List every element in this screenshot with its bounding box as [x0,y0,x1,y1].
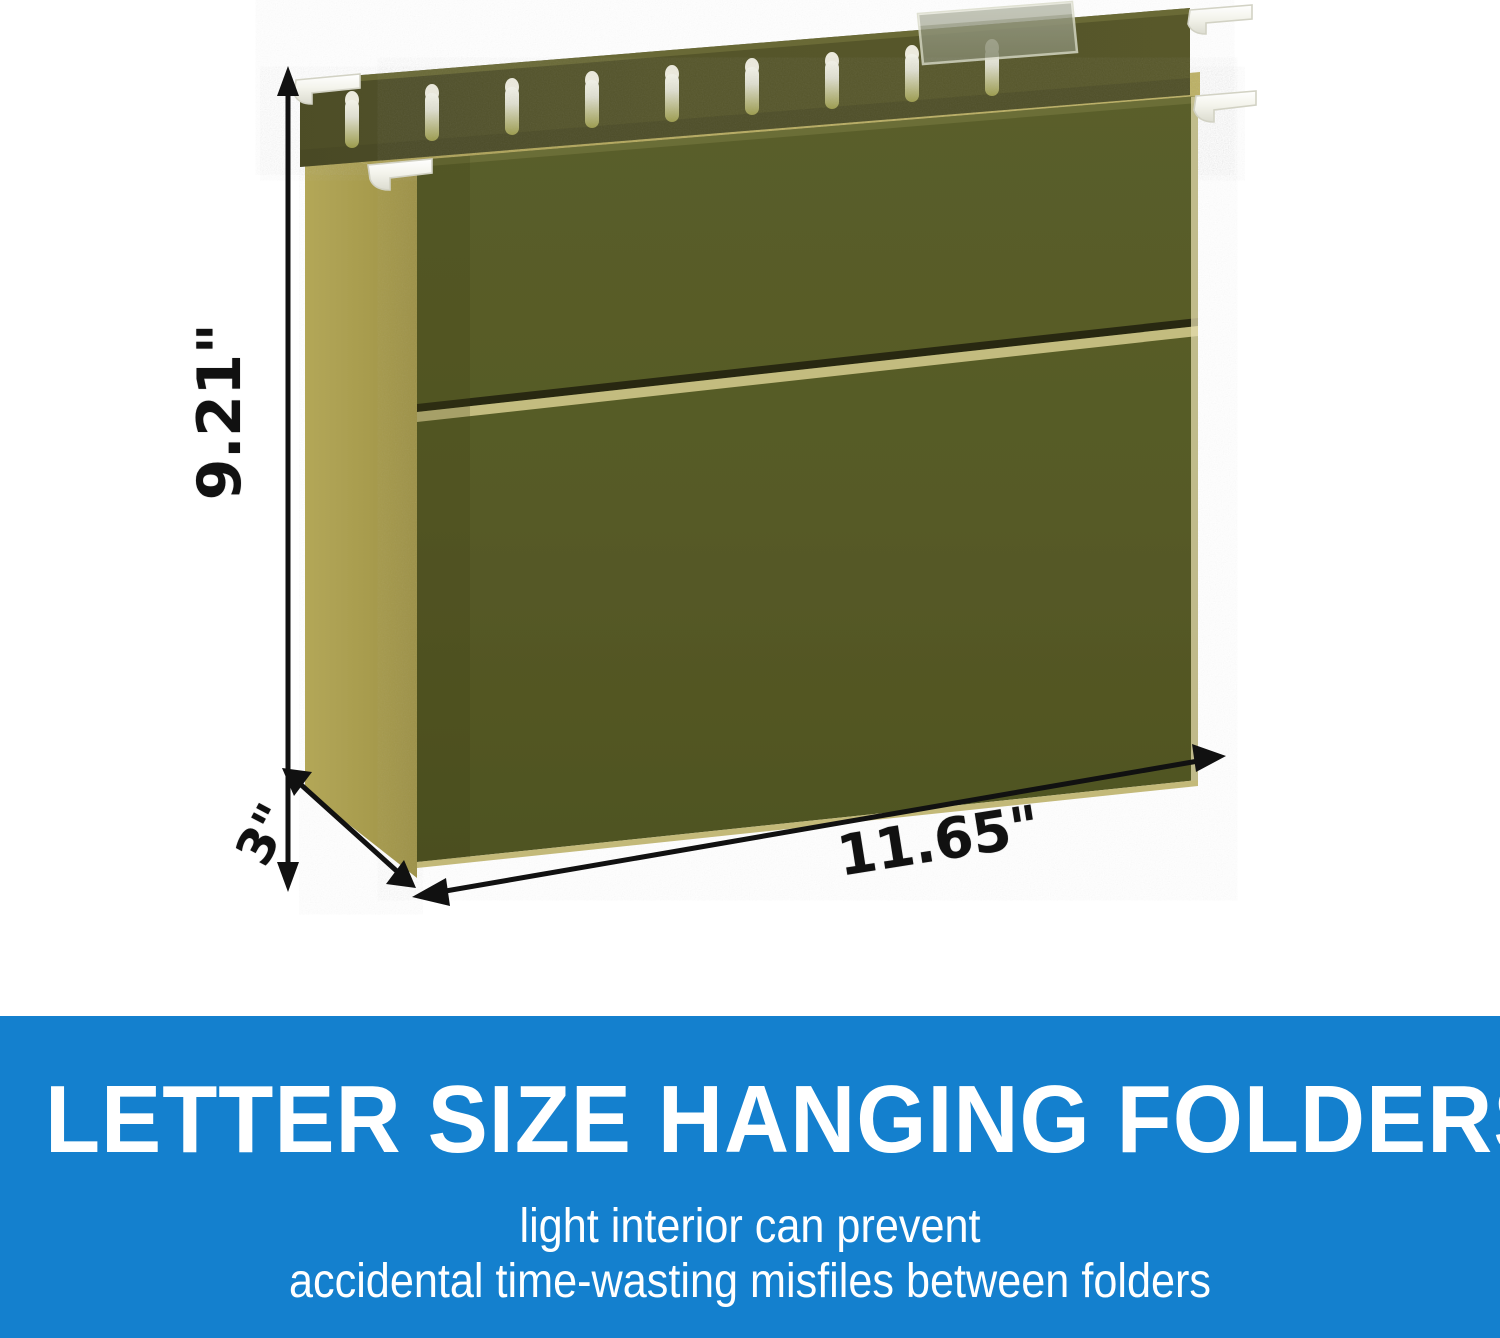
clear-plastic-tab [918,2,1077,64]
banner-subtitle-line-2: accidental time-wasting misfiles between… [75,1255,1425,1310]
tab-slot [745,58,759,115]
banner-subtitle-line-1: light interior can prevent [75,1200,1425,1255]
plastic-hook-front-right [1194,91,1256,122]
dimension-label-height: 9.21" [190,312,250,512]
front-panel-left-shade [417,156,470,862]
interior-side-panel [305,150,417,878]
tab-slot [825,52,839,109]
tab-slot [905,45,919,102]
tab-slot [345,91,359,148]
marketing-banner: LETTER SIZE HANGING FOLDERS light interi… [0,1016,1500,1338]
product-photo-area: 9.21" 11.65" 3" [0,0,1500,1016]
tab-slot [425,84,439,141]
banner-subtitle: light interior can prevent accidental ti… [0,1200,1500,1309]
tab-slot [665,65,679,122]
front-panel-right-edge [1191,96,1198,781]
dimension-line-height [277,66,299,892]
banner-headline: LETTER SIZE HANGING FOLDERS [45,1072,1455,1168]
plastic-hook-back-right [1188,5,1252,34]
tab-slot [585,71,599,128]
product-image-page: 9.21" 11.65" 3" LETTER SIZE HANGING FOLD… [0,0,1500,1338]
tab-slot [505,78,519,135]
